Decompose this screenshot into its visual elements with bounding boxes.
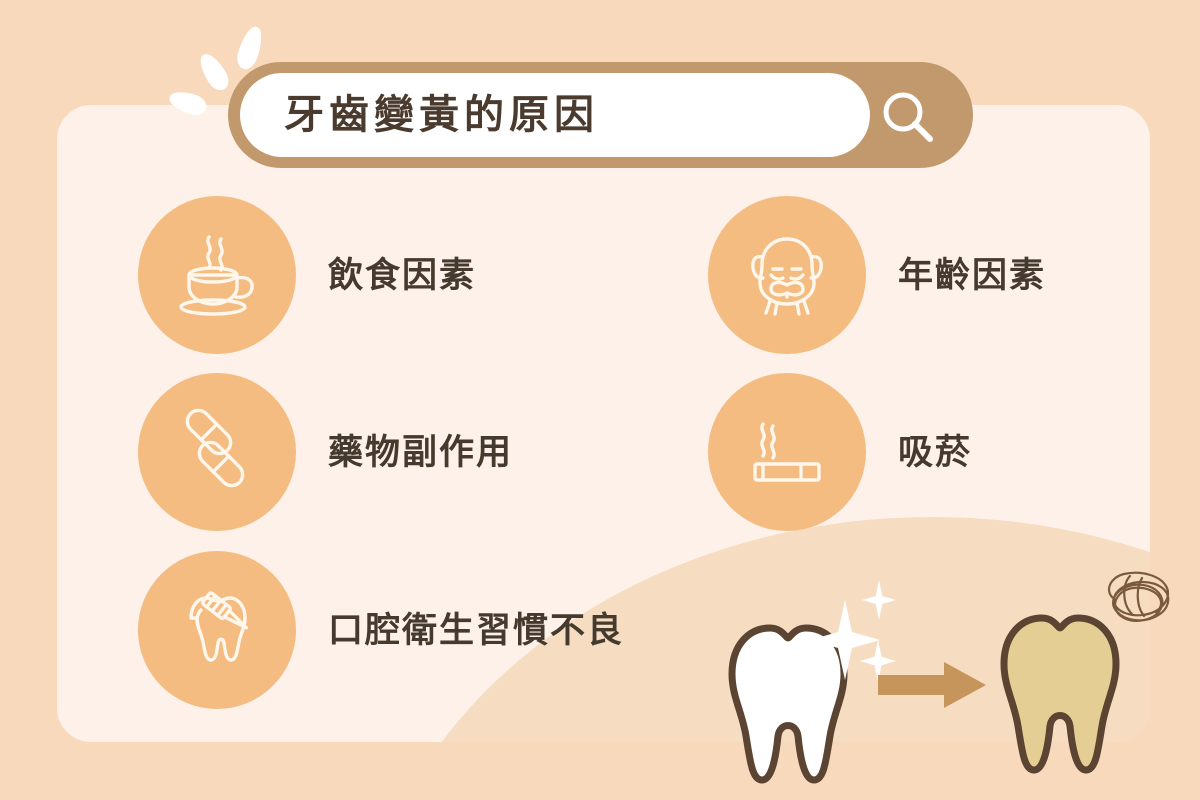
search-input[interactable]: 牙齒變黃的原因	[240, 73, 870, 157]
ray-icon	[195, 50, 233, 95]
pill-capsules-icon	[167, 402, 267, 502]
factor-item-diet[interactable]: 飲食因素	[138, 196, 476, 354]
factor-label: 吸菸	[898, 435, 972, 470]
factor-item-hygiene[interactable]: 口腔衛生習慣不良	[138, 551, 624, 709]
factor-icon-badge	[138, 196, 296, 354]
infographic-canvas: 牙齒變黃的原因 飲食因素	[0, 0, 1200, 800]
sparkle-icon	[810, 600, 880, 680]
factor-icon-badge	[708, 196, 866, 354]
factor-label: 藥物副作用	[328, 435, 513, 470]
page-title: 牙齒變黃的原因	[284, 95, 599, 135]
factor-item-smoking[interactable]: 吸菸	[708, 373, 972, 531]
factor-label: 口腔衛生習慣不良	[328, 613, 624, 648]
elderly-face-icon	[737, 225, 837, 325]
ray-icon	[167, 88, 209, 119]
tooth-toothbrush-icon	[167, 580, 267, 680]
factor-item-medicine[interactable]: 藥物副作用	[138, 373, 513, 531]
search-bar[interactable]: 牙齒變黃的原因	[228, 62, 973, 168]
sparkle-icon	[862, 580, 896, 620]
factor-item-age[interactable]: 年齡因素	[708, 196, 1046, 354]
coffee-cup-icon	[167, 225, 267, 325]
scribble-icon	[1086, 560, 1182, 640]
factor-label: 年齡因素	[898, 258, 1046, 293]
tooth-comparison-illustration	[700, 560, 1200, 800]
search-icon[interactable]	[881, 90, 935, 144]
factor-label: 飲食因素	[328, 258, 476, 293]
factor-icon-badge	[138, 373, 296, 531]
factor-icon-badge	[138, 551, 296, 709]
factor-icon-badge	[708, 373, 866, 531]
arrow-right-icon	[878, 662, 986, 708]
cigarette-icon	[737, 402, 837, 502]
